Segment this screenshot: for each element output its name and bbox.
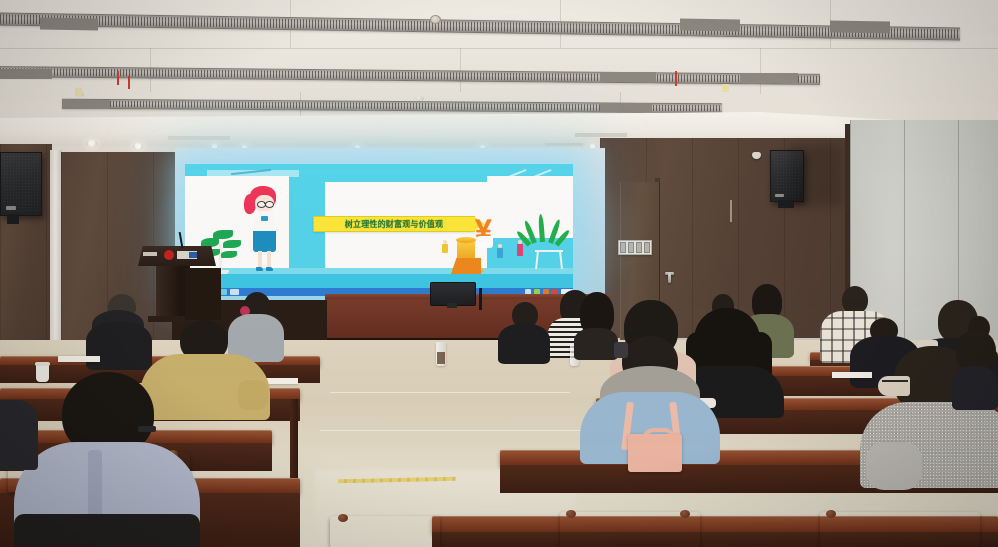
sprinkler-drop-pipe (128, 76, 130, 89)
lectern-badge-blue (189, 252, 197, 258)
slide-mini-figure-head (498, 244, 502, 248)
recessed-downlight (133, 143, 143, 150)
attendee-left-edge-partial (0, 400, 40, 470)
sprinkler-drop-pipe (675, 71, 677, 86)
eyeglasses-temple (138, 426, 156, 432)
paper-notes (58, 356, 100, 362)
cup-lid (35, 362, 50, 366)
monitor-stand (447, 303, 457, 308)
slide-floor-lower (185, 274, 573, 288)
switch-key[interactable] (636, 242, 642, 253)
chair-knob (680, 510, 690, 518)
attendee-front-left-blue-shirt (14, 372, 200, 547)
light-switch-panel[interactable] (618, 240, 652, 255)
sprinkler-head (430, 15, 441, 24)
air-diffuser-row-2 (0, 66, 820, 85)
conference-room-photo: 树立理性的财富观与价值观 (0, 0, 998, 547)
slide-mini-figure (517, 244, 523, 256)
chair-knob (338, 514, 348, 522)
chair-knob (566, 510, 576, 518)
slide-coin (456, 237, 476, 243)
arm (238, 380, 268, 410)
slide-title-text: 树立理性的财富观与价值观 (345, 218, 443, 230)
ceiling-vent-slot (575, 133, 627, 137)
lectern-label (143, 252, 157, 256)
projection-screen: 树立理性的财富观与价值观 (185, 164, 573, 296)
lectern-emblem-red (164, 250, 174, 260)
arm (866, 442, 922, 490)
slide-mini-figure-head (443, 240, 447, 244)
slide-plant (527, 214, 561, 254)
chair-row1-far-right (820, 512, 980, 547)
smoke-detector (415, 96, 424, 101)
slide-title-banner: 树立理性的财富观与价值观 (313, 216, 475, 232)
switch-key[interactable] (644, 242, 650, 253)
wall-speaker-left (0, 152, 42, 216)
slide-mini-figure (442, 244, 448, 253)
lectern-side (185, 268, 221, 320)
eyeglasses (882, 380, 908, 382)
air-diffuser-row-1 (0, 12, 960, 40)
attendee-right-edge-partial (952, 330, 998, 406)
slide-mini-figure (497, 248, 503, 258)
backpack-handle (642, 428, 676, 448)
attendee-back-left-dark (498, 302, 550, 360)
slide-cloud-shape (477, 236, 493, 248)
ceiling-vent-slot (545, 143, 583, 146)
chair-seatback-foreground (14, 514, 200, 547)
switch-key[interactable] (628, 242, 634, 253)
door-strike-plate (730, 200, 732, 222)
speaker-mount-left (7, 214, 19, 224)
switch-key[interactable] (620, 242, 626, 253)
face-profile (878, 376, 910, 396)
ceiling-fixture (75, 88, 82, 96)
door-handle-lever[interactable] (668, 273, 671, 283)
ceiling-vent-slot (168, 136, 230, 140)
floor-tile-seam (330, 392, 570, 393)
speaker-shadow (790, 144, 842, 206)
bottle-contents (437, 352, 445, 364)
floor-tile-seam (320, 430, 590, 431)
hair-clip (614, 342, 628, 358)
attendee-gray-hoodie-front (580, 336, 720, 456)
slide-character-presenter (242, 186, 286, 274)
ceiling-fixture (722, 84, 729, 92)
chair-row1-right (560, 512, 700, 547)
chair-knob (826, 510, 836, 518)
sprinkler-drop-pipe (117, 71, 119, 85)
shirt-placket (88, 450, 102, 522)
recessed-downlight (86, 140, 97, 147)
monitor-cable (479, 288, 482, 310)
